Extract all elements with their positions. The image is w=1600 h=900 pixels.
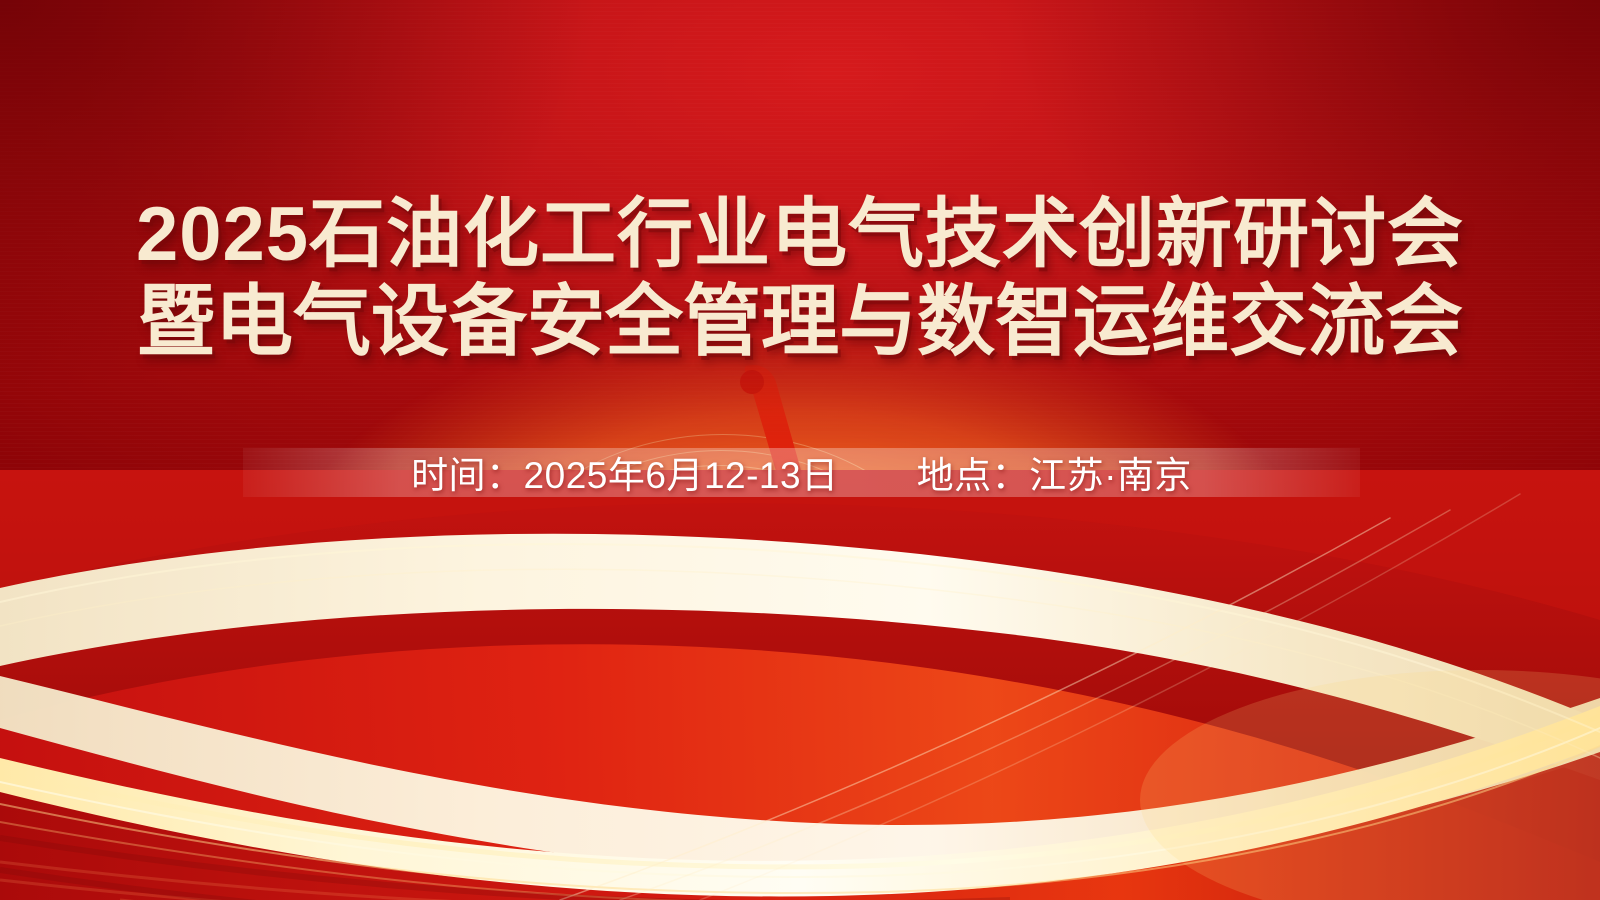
- ribbon-waves: [0, 470, 1600, 900]
- event-date: 时间：2025年6月12-13日: [411, 445, 839, 499]
- info-bar: 时间：2025年6月12-13日 地点：江苏·南京: [243, 440, 1360, 504]
- event-location: 地点：江苏·南京: [917, 445, 1192, 499]
- title-line-2: 暨电气设备安全管理与数智运维交流会: [0, 278, 1600, 364]
- conference-banner: 2025石油化工行业电气技术创新研讨会 暨电气设备安全管理与数智运维交流会 时间…: [0, 0, 1600, 900]
- title-line-1: 2025石油化工行业电气技术创新研讨会: [0, 192, 1600, 278]
- banner-title: 2025石油化工行业电气技术创新研讨会 暨电气设备安全管理与数智运维交流会: [0, 192, 1600, 364]
